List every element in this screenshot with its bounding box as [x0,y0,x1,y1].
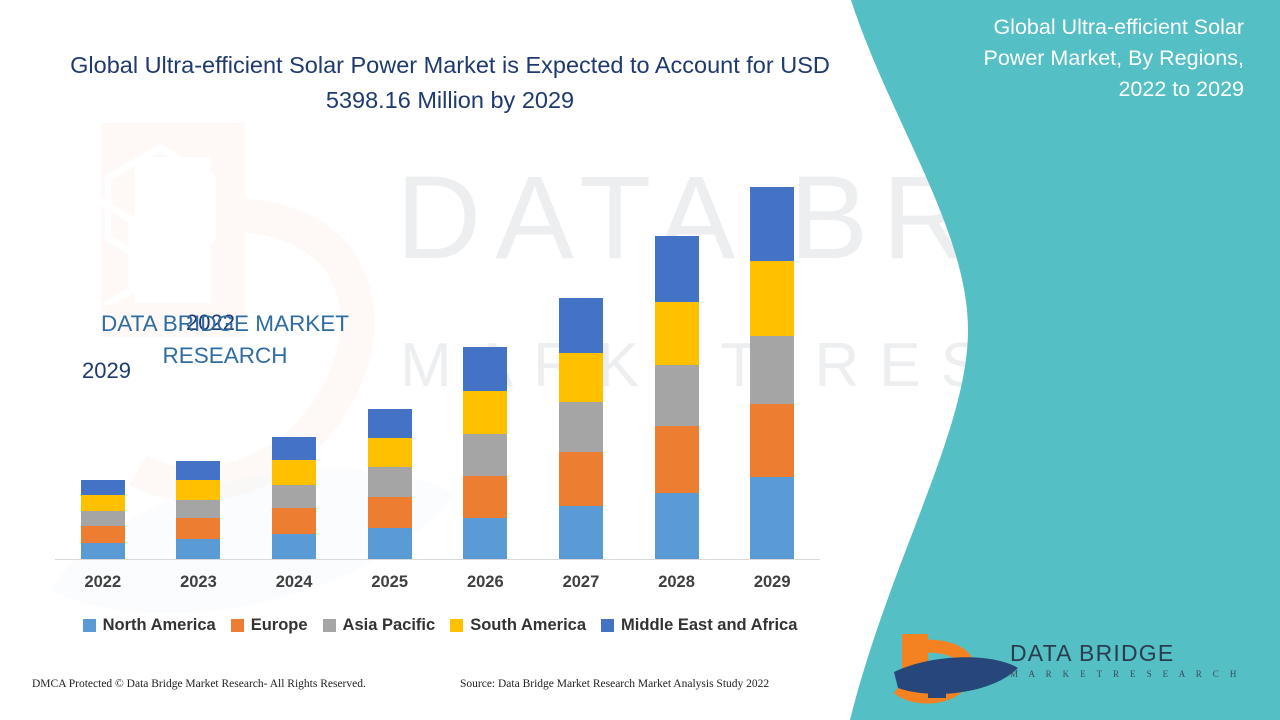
panel-brand: DATA BRIDGE MARKET RESEARCH [0,308,450,372]
legend-item[interactable]: Middle East and Africa [601,616,797,635]
legend-label: South America [470,616,586,635]
bar-segment[interactable] [272,508,316,534]
bar-segment[interactable] [655,302,699,365]
bar-slot [629,160,725,559]
legend-label: Asia Pacific [343,616,436,635]
stacked-bar-2026[interactable] [463,347,507,559]
legend-label: North America [103,616,216,635]
bar-segment[interactable] [750,336,794,404]
x-axis-label-2023: 2023 [151,573,247,592]
legend-item[interactable]: South America [450,616,586,635]
bar-segment[interactable] [559,298,603,353]
logo-name: DATA BRIDGE [1010,640,1241,667]
panel-brand-line-2: RESEARCH [0,340,450,372]
legend-label: Middle East and Africa [621,616,797,635]
bar-segment[interactable] [368,497,412,528]
bar-segment[interactable] [176,539,220,559]
bar-segment[interactable] [463,476,507,518]
bar-segment[interactable] [655,365,699,426]
x-axis-label-2026: 2026 [438,573,534,592]
bar-segment[interactable] [368,409,412,438]
bar-segment[interactable] [176,500,220,518]
bar-segment[interactable] [176,480,220,500]
legend-swatch-icon [83,619,96,632]
panel-title: Global Ultra-efficient Solar Power Marke… [944,12,1244,105]
x-axis-label-2024: 2024 [246,573,342,592]
bar-segment[interactable] [176,461,220,480]
bar-segment[interactable] [272,485,316,508]
x-axis-label-2027: 2027 [533,573,629,592]
legend-swatch-icon [450,619,463,632]
data-bridge-logo-text: DATA BRIDGE M A R K E T R E S E A R C H [1010,640,1241,679]
bar-segment[interactable] [81,543,125,559]
bar-segment[interactable] [81,511,125,526]
bar-segment[interactable] [368,467,412,497]
bar-segment[interactable] [750,404,794,477]
bar-segment[interactable] [559,353,603,402]
bar-segment[interactable] [655,236,699,302]
x-axis-label-2025: 2025 [342,573,438,592]
stacked-bar-2025[interactable] [368,409,412,559]
stacked-bar-2029[interactable] [750,187,794,559]
bar-segment[interactable] [463,518,507,559]
legend-item[interactable]: Europe [231,616,308,635]
bar-segment[interactable] [272,534,316,559]
x-axis-label-2022: 2022 [55,573,151,592]
stacked-bar-2022[interactable] [81,480,125,559]
stacked-bar-2024[interactable] [272,437,316,559]
page-title: Global Ultra-efficient Solar Power Marke… [70,48,830,118]
stacked-bar-2027[interactable] [559,298,603,559]
x-axis-label-2028: 2028 [629,573,725,592]
bar-segment[interactable] [176,518,220,539]
x-axis-label-2029: 2029 [724,573,820,592]
bar-segment[interactable] [559,506,603,559]
hexagon-2022 [108,148,212,268]
bar-segment[interactable] [463,434,507,476]
chart-legend: North AmericaEuropeAsia PacificSouth Ame… [55,616,825,635]
bar-segment[interactable] [463,391,507,434]
legend-item[interactable]: North America [83,616,216,635]
bar-segment[interactable] [750,261,794,336]
x-axis-labels: 20222023202420252026202720282029 [55,573,820,592]
bar-segment[interactable] [559,452,603,506]
legend-label: Europe [251,616,308,635]
bar-segment[interactable] [272,460,316,485]
bar-segment[interactable] [81,480,125,495]
footer: DMCA Protected © Data Bridge Market Rese… [0,678,850,704]
bar-segment[interactable] [368,438,412,467]
bar-segment[interactable] [655,493,699,559]
bar-slot [438,160,534,559]
bar-slot [724,160,820,559]
panel-brand-line-1: DATA BRIDGE MARKET [0,308,450,340]
stacked-bar-2023[interactable] [176,461,220,559]
legend-swatch-icon [323,619,336,632]
bar-segment[interactable] [750,477,794,559]
bar-segment[interactable] [463,347,507,391]
x-axis-line [55,559,820,560]
bar-segment[interactable] [655,426,699,493]
bar-segment[interactable] [272,437,316,460]
bar-segment[interactable] [368,528,412,559]
logo-tagline: M A R K E T R E S E A R C H [1010,669,1241,679]
footer-copyright: DMCA Protected © Data Bridge Market Rese… [32,678,366,690]
bar-segment[interactable] [750,187,794,261]
infographic-canvas: DATA BRIDGE MARKET RESEARCH Global Ultra… [0,0,1280,720]
legend-swatch-icon [231,619,244,632]
bar-segment[interactable] [81,526,125,543]
legend-item[interactable]: Asia Pacific [323,616,436,635]
footer-source: Source: Data Bridge Market Research Mark… [460,678,769,690]
stacked-bar-2028[interactable] [655,236,699,559]
bar-segment[interactable] [81,495,125,511]
legend-swatch-icon [601,619,614,632]
bar-slot [533,160,629,559]
teal-side-panel [830,0,1280,720]
hexagon-group: 2022 2029 [0,140,450,305]
bar-segment[interactable] [559,402,603,452]
